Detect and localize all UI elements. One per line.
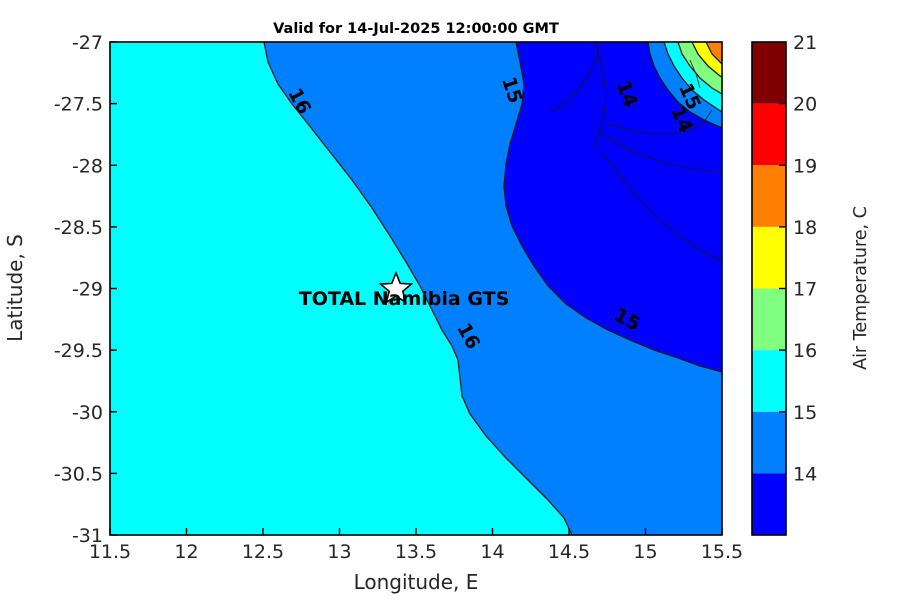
colorbar-tick-label: 15 <box>793 402 817 424</box>
y-tick-label: -27.5 <box>54 94 103 116</box>
colorbar-band <box>752 165 786 227</box>
x-tick-label: 12.5 <box>242 541 284 563</box>
y-tick-label: -29 <box>72 279 103 301</box>
colorbar-band <box>752 473 786 535</box>
x-tick-label: 15.5 <box>701 541 743 563</box>
colorbar-band <box>752 42 786 104</box>
colorbar-tick-label: 21 <box>793 32 817 54</box>
colorbar-tick-label: 14 <box>793 463 817 485</box>
colorbar-tick-label: 16 <box>793 340 817 362</box>
colorbar-tick-label: 17 <box>793 279 817 301</box>
y-tick-label: -31 <box>72 525 103 547</box>
colorbar-band <box>752 227 786 289</box>
colorbar-band <box>752 104 786 166</box>
y-tick-label: -30.5 <box>54 463 103 485</box>
y-tick-label: -27 <box>72 32 103 54</box>
colorbar-title: Air Temperature, C <box>851 206 871 370</box>
plot-area: 16 16 15 15 14 15 14 TOTAL Namibia GTS <box>110 42 722 535</box>
page-title: Valid for 14-Jul-2025 12:00:00 GMT <box>273 21 559 37</box>
x-tick-label: 15 <box>633 541 657 563</box>
station-label: TOTAL Namibia GTS <box>299 288 510 310</box>
contour-plot-figure: 16 16 15 15 14 15 14 TOTAL Namibia GTS V… <box>0 0 900 600</box>
colorbar-tick-label: 18 <box>793 217 817 239</box>
colorbar-band <box>752 289 786 351</box>
x-tick-label: 13.5 <box>395 541 437 563</box>
x-tick-label: 14 <box>480 541 504 563</box>
y-tick-label: -29.5 <box>54 340 103 362</box>
colorbar-band <box>752 350 786 412</box>
x-tick-label: 13 <box>327 541 351 563</box>
x-tick-label: 12 <box>174 541 198 563</box>
y-tick-label: -30 <box>72 402 103 424</box>
colorbar-tick-label: 20 <box>793 94 817 116</box>
y-axis-title: Latitude, S <box>3 234 27 342</box>
colorbar-tick-label: 19 <box>793 155 817 177</box>
y-tick-label: -28 <box>72 155 103 177</box>
x-axis-title: Longitude, E <box>354 570 479 594</box>
colorbar-band <box>752 412 786 474</box>
x-tick-label: 14.5 <box>548 541 590 563</box>
y-tick-label: -28.5 <box>54 217 103 239</box>
